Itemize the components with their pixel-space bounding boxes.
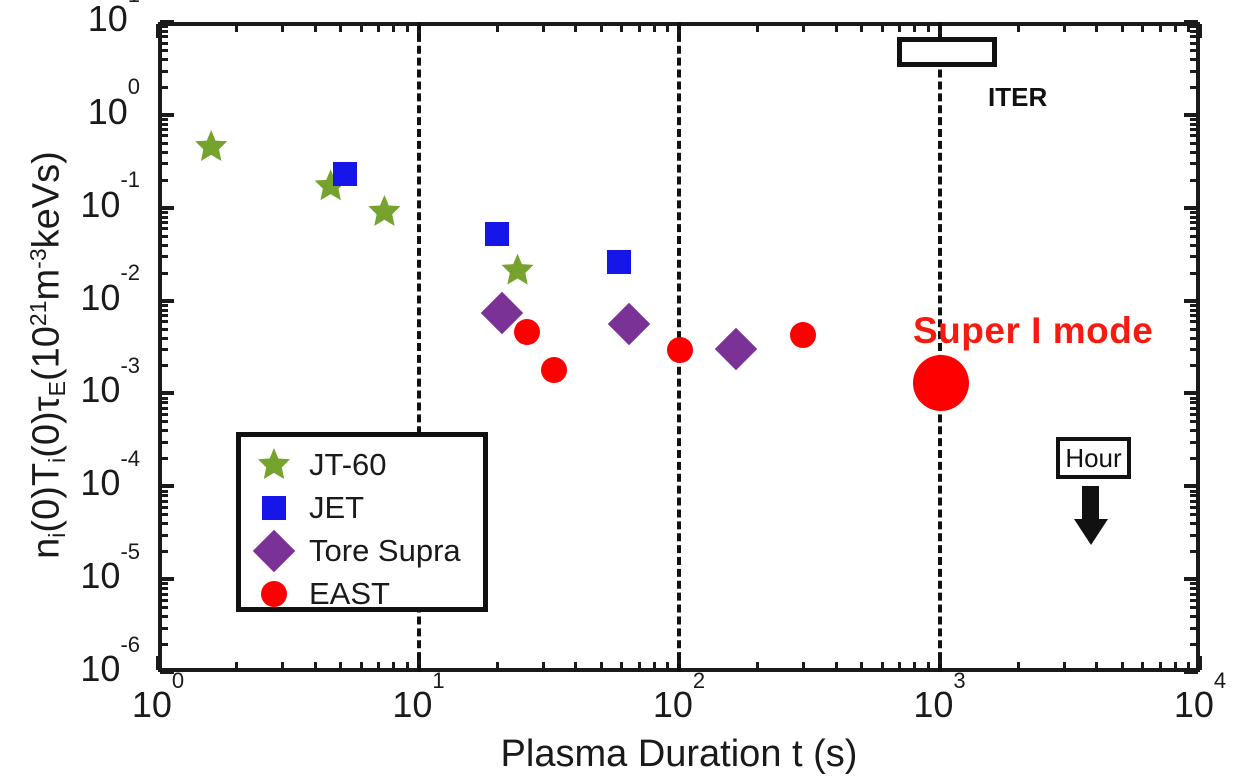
x-minor-tick-top	[600, 24, 603, 32]
y-minor-tick	[160, 216, 168, 219]
y-minor-tick	[160, 441, 168, 444]
y-major-tick	[160, 113, 174, 117]
y-tick-label: 10-4	[0, 462, 140, 504]
x-minor-tick-top	[927, 24, 930, 32]
x-minor-tick-top	[392, 24, 395, 32]
y-minor-tick	[160, 142, 168, 145]
x-minor-tick	[574, 662, 577, 670]
y-minor-tick	[160, 593, 168, 596]
x-minor-tick	[1121, 662, 1124, 670]
y-minor-tick-right	[1190, 58, 1198, 61]
y-minor-tick-right	[1190, 123, 1198, 126]
x-minor-tick-top	[314, 24, 317, 32]
y-minor-tick	[160, 494, 168, 497]
y-minor-tick	[160, 337, 168, 340]
y-minor-tick-right	[1190, 216, 1198, 219]
x-minor-tick	[860, 662, 863, 670]
legend-item-east[interactable]: EAST	[253, 572, 390, 616]
y-minor-tick-right	[1190, 429, 1198, 432]
y-minor-tick	[160, 244, 168, 247]
y-minor-tick	[160, 30, 168, 33]
x-minor-tick-top	[1174, 24, 1177, 32]
x-minor-tick-top	[235, 24, 238, 32]
x-minor-tick	[1141, 662, 1144, 670]
iter-target-box	[897, 37, 997, 67]
y-tick-label: 100	[0, 91, 140, 133]
x-minor-tick	[802, 662, 805, 670]
x-minor-tick-top	[1063, 24, 1066, 32]
y-minor-tick-right	[1190, 86, 1198, 89]
data-point-jet	[485, 222, 509, 246]
y-tick-label: 10-3	[0, 369, 140, 411]
y-minor-tick-right	[1190, 255, 1198, 258]
y-minor-tick	[160, 25, 168, 28]
y-minor-tick-right	[1190, 534, 1198, 537]
y-minor-tick-right	[1190, 128, 1198, 131]
chart-canvas: ni(0)Ti(0)τE(1021m-3keVs) 10010110210310…	[0, 0, 1253, 781]
x-tick-label: 100	[132, 684, 184, 726]
y-minor-tick	[160, 500, 168, 503]
x-minor-tick-top	[1141, 24, 1144, 32]
x-minor-tick-top	[802, 24, 805, 32]
x-minor-tick	[377, 662, 380, 670]
y-minor-tick	[160, 550, 168, 553]
y-minor-tick-right	[1190, 309, 1198, 312]
y-minor-tick-right	[1190, 314, 1198, 317]
x-minor-tick	[496, 662, 499, 670]
y-minor-tick	[160, 255, 168, 258]
x-minor-tick	[235, 662, 238, 670]
y-tick-label: 10-2	[0, 277, 140, 319]
x-minor-tick	[638, 662, 641, 670]
x-minor-tick	[666, 662, 669, 670]
y-major-tick	[160, 577, 174, 581]
y-minor-tick-right	[1190, 513, 1198, 516]
y-minor-tick	[160, 118, 168, 121]
y-minor-tick	[160, 328, 168, 331]
y-minor-tick	[160, 42, 168, 45]
y-minor-tick	[160, 134, 168, 137]
x-minor-tick	[542, 662, 545, 670]
y-minor-tick-right	[1190, 328, 1198, 331]
x-tick-label: 101	[392, 684, 444, 726]
y-minor-tick	[160, 413, 168, 416]
y-minor-tick	[160, 606, 168, 609]
y-minor-tick-right	[1190, 522, 1198, 525]
y-minor-tick	[160, 364, 168, 367]
y-minor-tick-right	[1190, 272, 1198, 275]
y-minor-tick	[160, 457, 168, 460]
x-major-tick-top	[1198, 24, 1202, 38]
y-minor-tick-right	[1190, 142, 1198, 145]
y-minor-tick-right	[1190, 490, 1198, 493]
x-minor-tick	[360, 662, 363, 670]
y-minor-tick	[160, 128, 168, 131]
x-tick-label: 103	[913, 684, 965, 726]
y-minor-tick	[160, 534, 168, 537]
x-minor-tick-top	[542, 24, 545, 32]
y-minor-tick-right	[1190, 211, 1198, 214]
y-minor-tick	[160, 86, 168, 89]
y-minor-tick	[160, 522, 168, 525]
y-minor-tick	[160, 429, 168, 432]
y-tick-label: 10-6	[0, 648, 140, 690]
x-minor-tick-top	[339, 24, 342, 32]
y-minor-tick-right	[1190, 151, 1198, 154]
y-minor-tick-right	[1190, 304, 1198, 307]
x-minor-tick	[898, 662, 901, 670]
y-minor-tick	[160, 179, 168, 182]
y-minor-tick-right	[1190, 348, 1198, 351]
legend-item-jet[interactable]: JET	[253, 486, 364, 530]
legend-label: EAST	[309, 576, 390, 612]
x-minor-tick-top	[653, 24, 656, 32]
y-minor-tick	[160, 304, 168, 307]
y-minor-tick-right	[1190, 227, 1198, 230]
x-minor-tick-top	[1121, 24, 1124, 32]
x-minor-tick-top	[913, 24, 916, 32]
y-minor-tick	[160, 490, 168, 493]
y-minor-tick	[160, 235, 168, 238]
x-minor-tick	[913, 662, 916, 670]
y-major-tick	[160, 391, 174, 395]
y-minor-tick	[160, 627, 168, 630]
x-axis-title: Plasma Duration t (s)	[158, 733, 1200, 776]
x-minor-tick-top	[496, 24, 499, 32]
y-minor-tick	[160, 407, 168, 410]
y-major-tick-right	[1184, 670, 1198, 674]
x-minor-tick	[339, 662, 342, 670]
x-major-tick	[1198, 656, 1202, 670]
square-marker-icon	[253, 487, 295, 529]
y-minor-tick	[160, 151, 168, 154]
y-minor-tick	[160, 35, 168, 38]
data-point-east	[541, 357, 567, 383]
x-minor-tick	[281, 662, 284, 670]
y-minor-tick	[160, 314, 168, 317]
y-minor-tick-right	[1190, 506, 1198, 509]
y-minor-tick-right	[1190, 118, 1198, 121]
x-minor-tick-top	[377, 24, 380, 32]
y-minor-tick-right	[1190, 615, 1198, 618]
y-minor-tick	[160, 162, 168, 165]
y-minor-tick-right	[1190, 25, 1198, 28]
x-minor-tick-top	[1017, 24, 1020, 32]
y-minor-tick	[160, 401, 168, 404]
y-minor-tick	[160, 587, 168, 590]
y-tick-label: 101	[0, 0, 140, 40]
data-point-east	[667, 337, 693, 363]
y-minor-tick-right	[1190, 42, 1198, 45]
y-major-tick-right	[1184, 577, 1198, 581]
y-major-tick-right	[1184, 484, 1198, 488]
y-minor-tick-right	[1190, 179, 1198, 182]
x-minor-tick	[1159, 662, 1162, 670]
x-tick-label: 104	[1174, 684, 1226, 726]
y-minor-tick	[160, 348, 168, 351]
y-minor-tick	[160, 123, 168, 126]
y-minor-tick-right	[1190, 407, 1198, 410]
x-minor-tick	[1187, 662, 1190, 670]
y-minor-tick-right	[1190, 494, 1198, 497]
x-minor-tick	[756, 662, 759, 670]
legend-label: JT-60	[309, 447, 387, 483]
y-minor-tick	[160, 420, 168, 423]
y-minor-tick	[160, 309, 168, 312]
x-minor-tick-top	[898, 24, 901, 32]
y-minor-tick	[160, 513, 168, 516]
y-minor-tick-right	[1190, 134, 1198, 137]
y-minor-tick-right	[1190, 582, 1198, 585]
circle-marker-icon	[253, 573, 295, 615]
y-minor-tick-right	[1190, 413, 1198, 416]
y-minor-tick-right	[1190, 364, 1198, 367]
y-minor-tick	[160, 272, 168, 275]
y-tick-label: 10-1	[0, 184, 140, 226]
y-major-tick	[160, 20, 174, 24]
x-minor-tick-top	[881, 24, 884, 32]
y-minor-tick-right	[1190, 35, 1198, 38]
y-major-tick	[160, 299, 174, 303]
y-minor-tick-right	[1190, 593, 1198, 596]
y-minor-tick-right	[1190, 49, 1198, 52]
x-minor-tick	[1095, 662, 1098, 670]
hour-arrow-head	[1074, 519, 1108, 545]
iter-label: ITER	[988, 82, 1047, 113]
data-point-east	[790, 322, 816, 348]
y-minor-tick-right	[1190, 30, 1198, 33]
x-major-tick	[156, 656, 160, 670]
y-minor-tick-right	[1190, 599, 1198, 602]
x-minor-tick	[406, 662, 409, 670]
y-minor-tick-right	[1190, 320, 1198, 323]
legend-item-tore-supra[interactable]: Tore Supra	[253, 529, 461, 573]
y-minor-tick-right	[1190, 401, 1198, 404]
x-minor-tick-top	[281, 24, 284, 32]
y-minor-tick	[160, 211, 168, 214]
y-minor-tick	[160, 49, 168, 52]
y-major-tick	[160, 206, 174, 210]
x-minor-tick-top	[620, 24, 623, 32]
x-minor-tick	[881, 662, 884, 670]
hour-box: Hour	[1056, 437, 1131, 479]
x-minor-tick-top	[360, 24, 363, 32]
y-major-tick	[160, 484, 174, 488]
y-minor-tick-right	[1190, 627, 1198, 630]
data-point-jet	[333, 162, 357, 186]
data-point-east	[913, 355, 969, 411]
super-i-mode-label: Super I mode	[913, 310, 1153, 352]
legend-item-jt-60[interactable]: JT-60	[253, 443, 387, 487]
y-minor-tick	[160, 320, 168, 323]
x-tick-label: 102	[653, 684, 705, 726]
y-minor-tick	[160, 643, 168, 646]
x-minor-tick	[392, 662, 395, 670]
x-minor-tick-top	[835, 24, 838, 32]
x-minor-tick	[927, 662, 930, 670]
x-minor-tick-top	[666, 24, 669, 32]
y-major-tick-right	[1184, 206, 1198, 210]
data-point-east	[514, 319, 540, 345]
x-minor-tick	[1063, 662, 1066, 670]
y-minor-tick-right	[1190, 457, 1198, 460]
x-minor-tick	[314, 662, 317, 670]
x-minor-tick-top	[638, 24, 641, 32]
y-minor-tick	[160, 599, 168, 602]
y-minor-tick-right	[1190, 337, 1198, 340]
y-tick-label: 10-5	[0, 555, 140, 597]
y-major-tick-right	[1184, 113, 1198, 117]
x-minor-tick-top	[1159, 24, 1162, 32]
x-minor-tick	[835, 662, 838, 670]
y-minor-tick	[160, 397, 168, 400]
y-minor-tick-right	[1190, 587, 1198, 590]
y-minor-tick	[160, 582, 168, 585]
x-minor-tick-top	[756, 24, 759, 32]
y-minor-tick-right	[1190, 643, 1198, 646]
y-minor-tick-right	[1190, 397, 1198, 400]
star-marker-icon	[253, 444, 295, 486]
legend-label: Tore Supra	[309, 533, 461, 569]
legend-label: JET	[309, 490, 364, 526]
y-major-tick-right	[1184, 20, 1198, 24]
data-point-jet	[607, 250, 631, 274]
y-minor-tick	[160, 227, 168, 230]
legend: JT-60JETTore SupraEAST	[236, 432, 488, 612]
y-minor-tick-right	[1190, 70, 1198, 73]
x-minor-tick-top	[1095, 24, 1098, 32]
y-minor-tick-right	[1190, 235, 1198, 238]
y-major-tick-right	[1184, 391, 1198, 395]
x-minor-tick	[653, 662, 656, 670]
y-minor-tick-right	[1190, 420, 1198, 423]
y-minor-tick-right	[1190, 550, 1198, 553]
y-minor-tick	[160, 58, 168, 61]
x-minor-tick	[1017, 662, 1020, 670]
x-minor-tick-top	[406, 24, 409, 32]
y-minor-tick	[160, 506, 168, 509]
x-minor-tick-top	[574, 24, 577, 32]
y-minor-tick-right	[1190, 162, 1198, 165]
x-minor-tick	[1174, 662, 1177, 670]
x-minor-tick-top	[860, 24, 863, 32]
y-minor-tick	[160, 221, 168, 224]
y-minor-tick-right	[1190, 221, 1198, 224]
diamond-marker-icon	[253, 530, 295, 572]
y-minor-tick-right	[1190, 244, 1198, 247]
y-minor-tick-right	[1190, 441, 1198, 444]
y-minor-tick	[160, 615, 168, 618]
y-minor-tick-right	[1190, 606, 1198, 609]
x-minor-tick	[620, 662, 623, 670]
y-minor-tick-right	[1190, 500, 1198, 503]
y-minor-tick	[160, 70, 168, 73]
y-major-tick-right	[1184, 299, 1198, 303]
x-minor-tick	[600, 662, 603, 670]
